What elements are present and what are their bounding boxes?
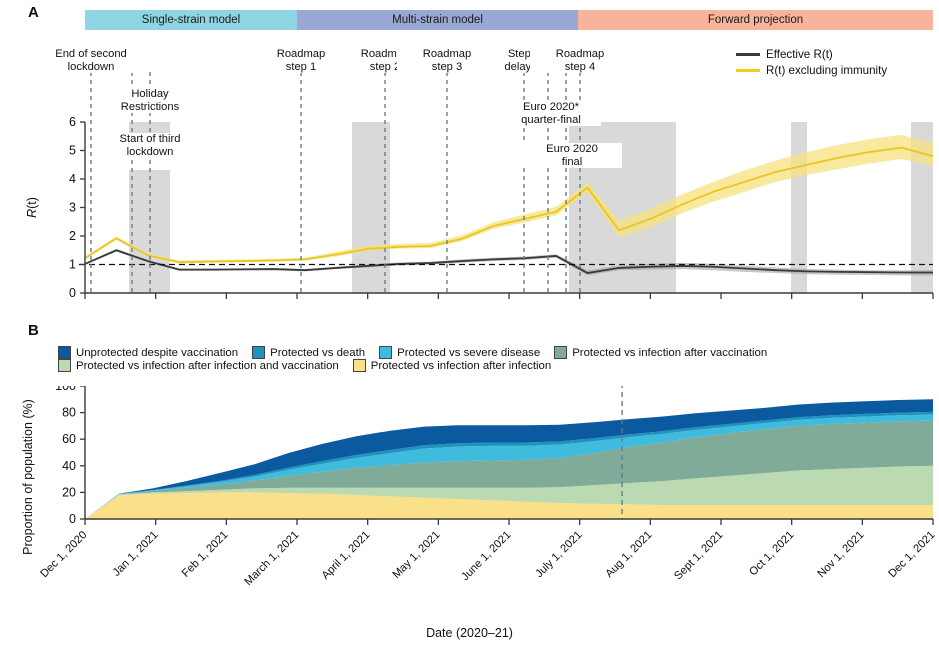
panel-b-x-axis-title: Date (2020–21) — [0, 626, 939, 640]
panel-b-x-tick-label: June 1, 2021 — [459, 529, 513, 583]
panel-b-y-axis-title: Proportion of population (%) — [21, 387, 35, 567]
event-label: Start of third lockdown — [100, 133, 200, 158]
panel-b-x-tick-label: Oct 1, 2021 — [747, 529, 796, 578]
panel-b-x-tick-label: Dec 1, 2020 — [38, 529, 89, 580]
panel-b-x-tick-label: Sept 1, 2021 — [672, 529, 725, 582]
panel-b-x-tick-label: March 1, 2021 — [242, 529, 301, 588]
event-label: Euro 2020 final — [522, 143, 622, 168]
panel-b-x-tick-label: Aug 1, 2021 — [604, 529, 655, 580]
panel-b-x-tick-label: Dec 1, 2021 — [886, 529, 937, 580]
panel-b-x-tick-label: May 1, 2021 — [391, 529, 443, 581]
panel-b-x-tick-label: Jan 1, 2021 — [110, 529, 160, 579]
panel-b-x-tick-label: April 1, 2021 — [319, 529, 372, 582]
event-label: End of second lockdown — [41, 48, 141, 73]
panel-b-x-tick-label: Feb 1, 2021 — [180, 529, 231, 580]
event-label: Euro 2020* quarter-final — [501, 101, 601, 126]
panel-b-x-tick-label: Nov 1, 2021 — [816, 529, 867, 580]
event-label: Holiday Restrictions — [100, 88, 200, 113]
panel-b-x-tick-label: July 1, 2021 — [533, 529, 584, 580]
figure-root: A Single-strain modelMulti-strain modelF… — [0, 0, 939, 650]
event-label: Roadmap step 4 — [530, 48, 630, 73]
